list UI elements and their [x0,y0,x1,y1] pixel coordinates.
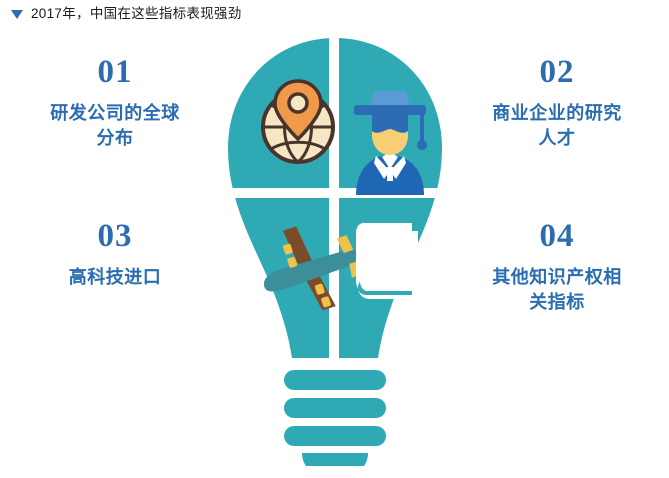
bulb-contact-tip [302,453,368,466]
item-03-number: 03 [10,220,220,253]
item-01-label-line1: 研发公司的全球 [10,101,220,126]
triangle-down-icon [11,10,23,19]
item-04-label-line1: 其他知识产权相 [452,265,662,290]
infographic-stage: 01 研发公司的全球 分布 03 高科技进口 02 商业企业的研究 人才 04 … [0,28,669,478]
item-03-block[interactable]: 03 高科技进口 [10,220,220,290]
item-01-number: 01 [10,56,220,89]
bulb-thread-3 [284,426,386,446]
item-03-label: 高科技进口 [10,265,220,290]
item-01-label: 研发公司的全球 分布 [10,101,220,151]
item-02-number: 02 [452,56,662,89]
item-04-label-line2: 关指标 [452,290,662,315]
bulb-body [222,36,448,376]
bulb-thread-2 [284,398,386,418]
item-04-label: 其他知识产权相 关指标 [452,265,662,315]
item-02-label-line2: 人才 [452,126,662,151]
lightbulb-graphic [222,36,448,466]
page-header: 2017年，中国在这些指标表现强劲 [0,0,669,28]
item-02-block[interactable]: 02 商业企业的研究 人才 [452,56,662,151]
item-03-label-line1: 高科技进口 [10,265,220,290]
item-01-block[interactable]: 01 研发公司的全球 分布 [10,56,220,151]
item-04-number: 04 [452,220,662,253]
bulb-base [284,370,386,466]
book-icon [356,223,418,299]
bulb-thread-1 [284,370,386,390]
item-04-block[interactable]: 04 其他知识产权相 关指标 [452,220,662,315]
item-02-label: 商业企业的研究 人才 [452,101,662,151]
item-02-label-line1: 商业企业的研究 [452,101,662,126]
page-title: 2017年，中国在这些指标表现强劲 [31,7,242,21]
quadrant-divider-vertical [329,36,339,366]
item-01-label-line2: 分布 [10,126,220,151]
